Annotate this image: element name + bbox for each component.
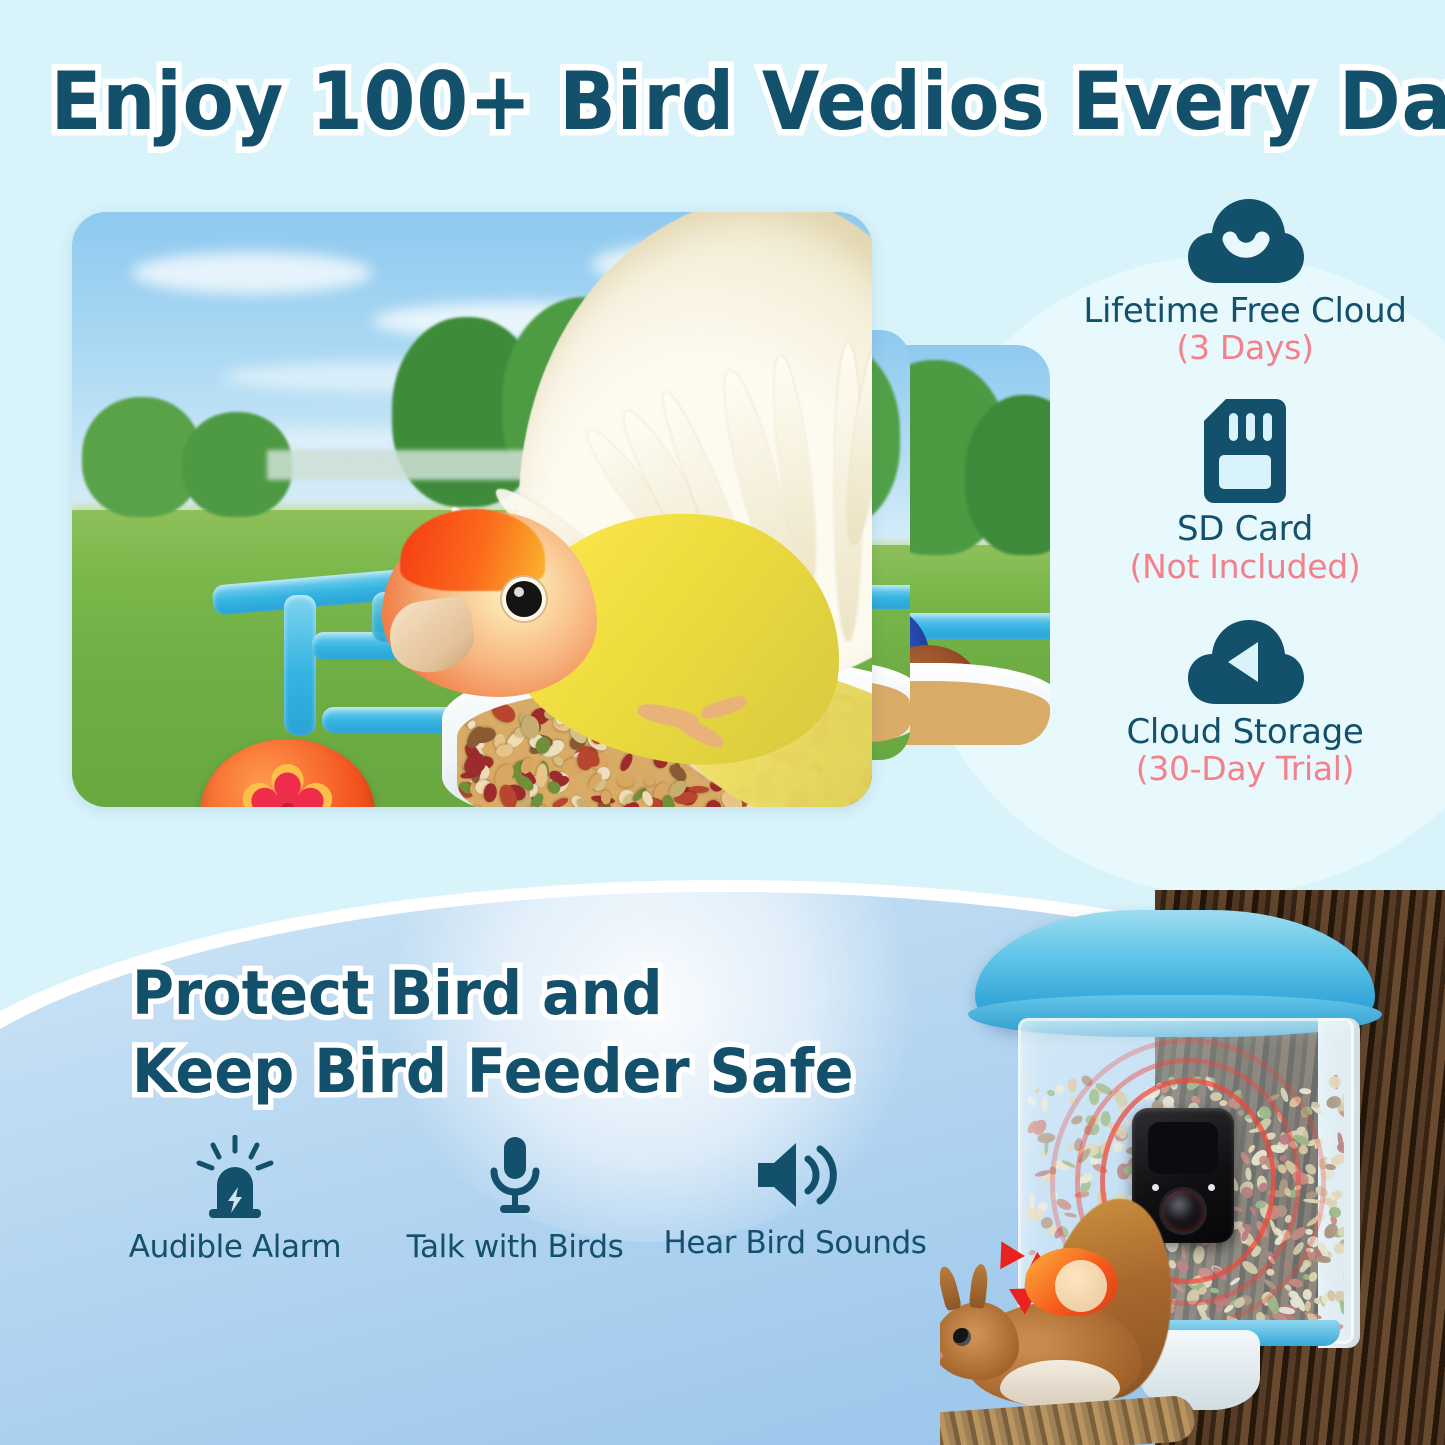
feature-label: Hear Bird Sounds (655, 1225, 935, 1261)
speaker-sound-icon (752, 1135, 838, 1215)
feature-sd-card: SD Card (Not Included) (1045, 397, 1445, 585)
video-thumbnail-scene (72, 212, 872, 807)
feature-label: Talk with Birds (375, 1229, 655, 1265)
feature-label: Cloud Storage (1045, 714, 1445, 751)
feature-audible-alarm: Audible Alarm (95, 1135, 375, 1265)
feature-sublabel: (3 Days) (1045, 330, 1445, 367)
smart-bird-feeder-camera (940, 890, 1445, 1445)
main-video-card[interactable] (72, 212, 872, 807)
top-section: Enjoy 100+ Bird Vedios Every Day (0, 0, 1445, 900)
feature-label: Audible Alarm (95, 1229, 375, 1265)
bottom-headline-line-2: Keep Bird Feeder Safe (132, 1033, 853, 1111)
bottom-headline: Protect Bird and Keep Bird Feeder Safe (132, 955, 853, 1111)
bottom-headline-line-1: Protect Bird and (132, 955, 853, 1033)
siren-alarm-icon (195, 1135, 275, 1219)
red-squirrel (940, 1210, 1205, 1440)
feature-hear-bird-sounds: Hear Bird Sounds (655, 1135, 935, 1265)
flower-shape-icon (240, 763, 335, 807)
feature-label: SD Card (1045, 511, 1445, 548)
top-headline: Enjoy 100+ Bird Vedios Every Day (51, 55, 1395, 148)
feature-lifetime-free-cloud: Lifetime Free Cloud (3 Days) (1045, 195, 1445, 367)
feature-talk-with-birds: Talk with Birds (375, 1135, 655, 1265)
feature-cloud-storage: Cloud Storage (30-Day Trial) (1045, 616, 1445, 788)
feature-label: Lifetime Free Cloud (1045, 293, 1445, 330)
product-marketing-image: Enjoy 100+ Bird Vedios Every Day (0, 0, 1445, 1445)
cloud-storage-feature-list: Lifetime Free Cloud (3 Days) SD Card (No… (1045, 195, 1445, 806)
sd-card-icon (1202, 397, 1288, 505)
cloud-smile-icon (1186, 195, 1304, 287)
feature-sublabel: (Not Included) (1045, 549, 1445, 586)
feature-sublabel: (30-Day Trial) (1045, 751, 1445, 788)
microphone-icon (484, 1135, 546, 1219)
cloud-playback-icon (1186, 616, 1304, 708)
safety-feature-list: Audible Alarm Talk with Birds Hear Bird … (95, 1135, 935, 1265)
